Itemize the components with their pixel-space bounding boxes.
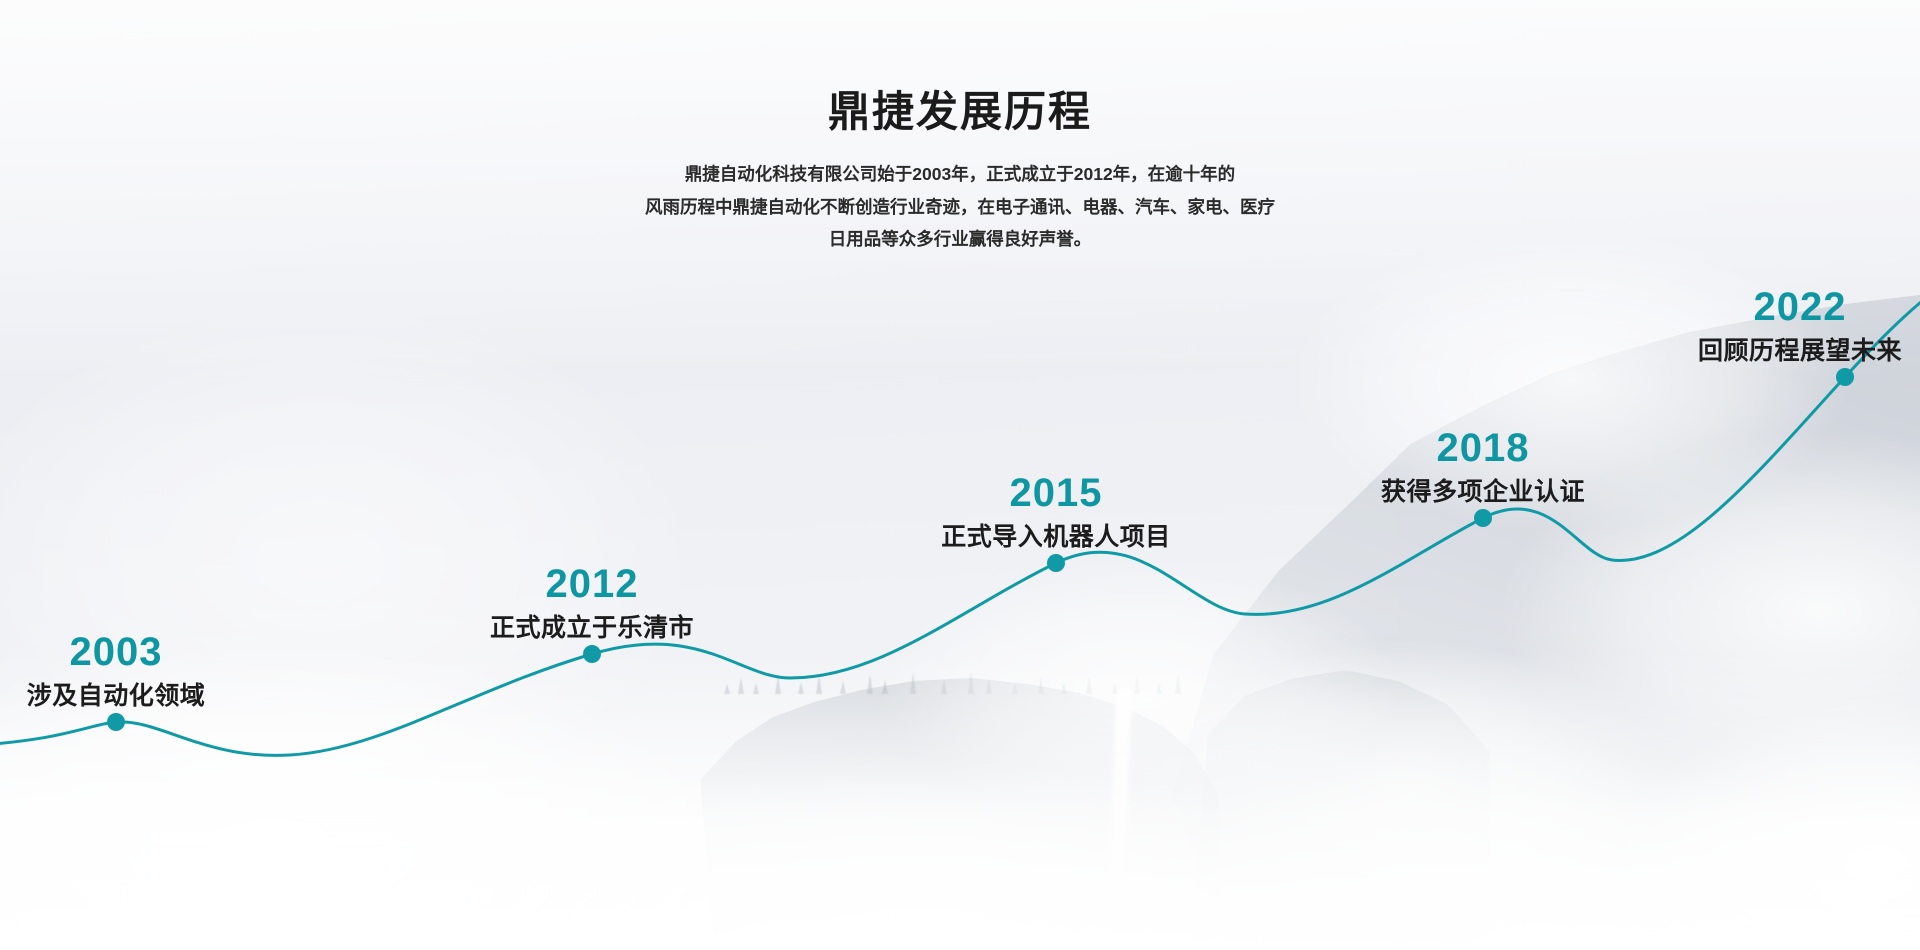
milestone-year: 2022 [1698,287,1902,327]
milestone-label: 正式成立于乐清市 [490,613,694,643]
milestone-year: 2012 [490,564,694,604]
timeline-dot-2012[interactable] [583,645,601,663]
milestone-label: 正式导入机器人项目 [941,522,1171,552]
timeline-infographic: 鼎捷发展历程 鼎捷自动化科技有限公司始于2003年，正式成立于2012年，在逾十… [0,0,1920,950]
milestone-2015[interactable]: 2015正式导入机器人项目 [941,473,1171,552]
milestone-year: 2003 [27,632,206,672]
timeline-dot-2018[interactable] [1474,509,1492,527]
timeline-dot-2015[interactable] [1047,554,1065,572]
milestone-2012[interactable]: 2012正式成立于乐清市 [490,564,694,643]
timeline-dot-2003[interactable] [107,713,125,731]
milestone-label: 回顾历程展望未来 [1698,336,1902,366]
milestone-label: 获得多项企业认证 [1381,477,1585,507]
milestone-2018[interactable]: 2018获得多项企业认证 [1381,428,1585,507]
milestone-year: 2015 [941,473,1171,513]
milestone-year: 2018 [1381,428,1585,468]
timeline-dot-2022[interactable] [1836,368,1854,386]
milestone-2022[interactable]: 2022回顾历程展望未来 [1698,287,1902,366]
milestone-2003[interactable]: 2003涉及自动化领域 [27,632,206,711]
milestone-label: 涉及自动化领域 [27,681,206,711]
